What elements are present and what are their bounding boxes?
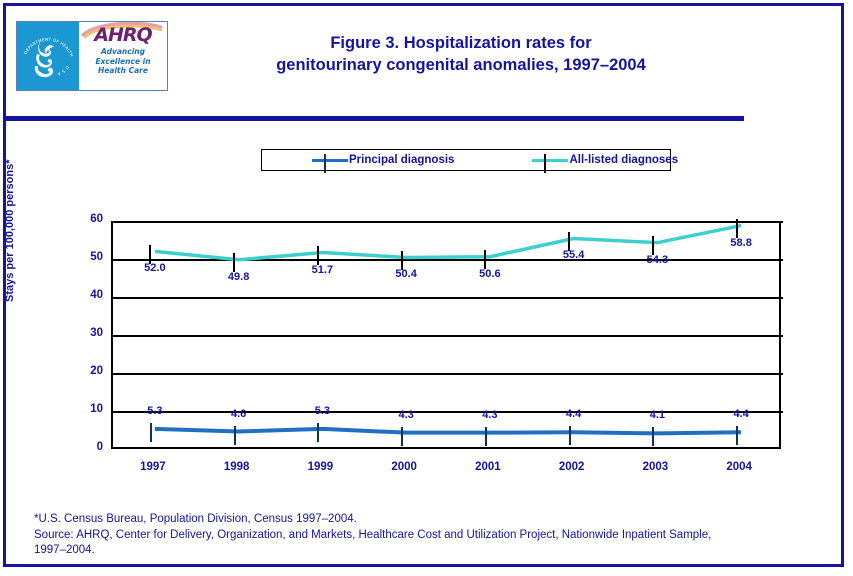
square-marker-icon [652,237,654,255]
data-label: 4.3 [376,409,436,421]
diamond-marker-icon [317,424,319,442]
diamond-marker-icon [652,428,654,446]
y-axis-tick-50: 50 [63,251,103,263]
diamond-marker-icon [485,428,487,446]
data-label: 50.4 [376,268,436,280]
data-label: 4.1 [627,409,687,421]
data-label: 4.4 [544,408,604,420]
x-axis-tick-1997: 1997 [123,461,183,473]
footnote-line1: *U.S. Census Bureau, Population Division… [34,512,834,528]
data-label: 4.4 [711,408,771,420]
square-marker-icon [484,251,486,269]
data-label: 51.7 [292,264,352,276]
y-axis-tick-40: 40 [63,289,103,301]
y-axis-tick-10: 10 [63,403,103,415]
x-axis-tick-2004: 2004 [709,461,769,473]
y-axis-tick-0: 0 [63,441,103,453]
plot-area: 5.34.65.34.34.34.44.14.452.049.851.750.4… [111,221,781,449]
square-marker-icon [149,246,151,264]
square-marker-icon [401,252,403,270]
square-marker-icon [736,220,738,238]
x-axis-tick-2002: 2002 [542,461,602,473]
x-axis-tick-2000: 2000 [374,461,434,473]
diamond-marker-icon [569,427,571,445]
y-axis-tick-60: 60 [63,213,103,225]
x-axis-tick-1999: 1999 [290,461,350,473]
figure-frame: DEPARTMENT OF HEALTH & HUMAN SERVICES U … [3,3,844,567]
square-marker-icon [317,247,319,265]
x-axis-tick-2003: 2003 [625,461,685,473]
data-label: 58.8 [711,237,771,249]
ahrq-wordmark-text: AHRQ [94,26,151,45]
data-label: 4.3 [460,409,520,421]
chart-area: Stays per 100,000 persons* 0102030405060… [6,6,847,570]
data-label: 4.6 [209,408,269,420]
data-label: 50.6 [460,268,520,280]
data-label: 5.3 [292,405,352,417]
x-axis-tick-2001: 2001 [458,461,518,473]
diamond-marker-icon [401,428,403,446]
diamond-marker-icon [736,427,738,445]
square-marker-icon [568,233,570,251]
y-axis-tick-20: 20 [63,365,103,377]
diamond-marker-icon [234,427,236,445]
y-axis-tick-30: 30 [63,327,103,339]
footnote-line3: 1997–2004. [34,543,834,559]
x-axis-tick-1998: 1998 [207,461,267,473]
square-marker-icon [233,254,235,272]
data-label: 55.4 [544,249,604,261]
data-label: 52.0 [125,262,185,274]
data-label: 54.3 [627,254,687,266]
y-axis-label: Stays per 100,000 persons* [4,160,16,302]
data-label: 5.3 [125,405,185,417]
footnote-line2: Source: AHRQ, Center for Delivery, Organ… [34,528,834,544]
figure-footnote: *U.S. Census Bureau, Population Division… [34,512,834,559]
diamond-marker-icon [150,424,152,442]
data-label: 49.8 [209,271,269,283]
